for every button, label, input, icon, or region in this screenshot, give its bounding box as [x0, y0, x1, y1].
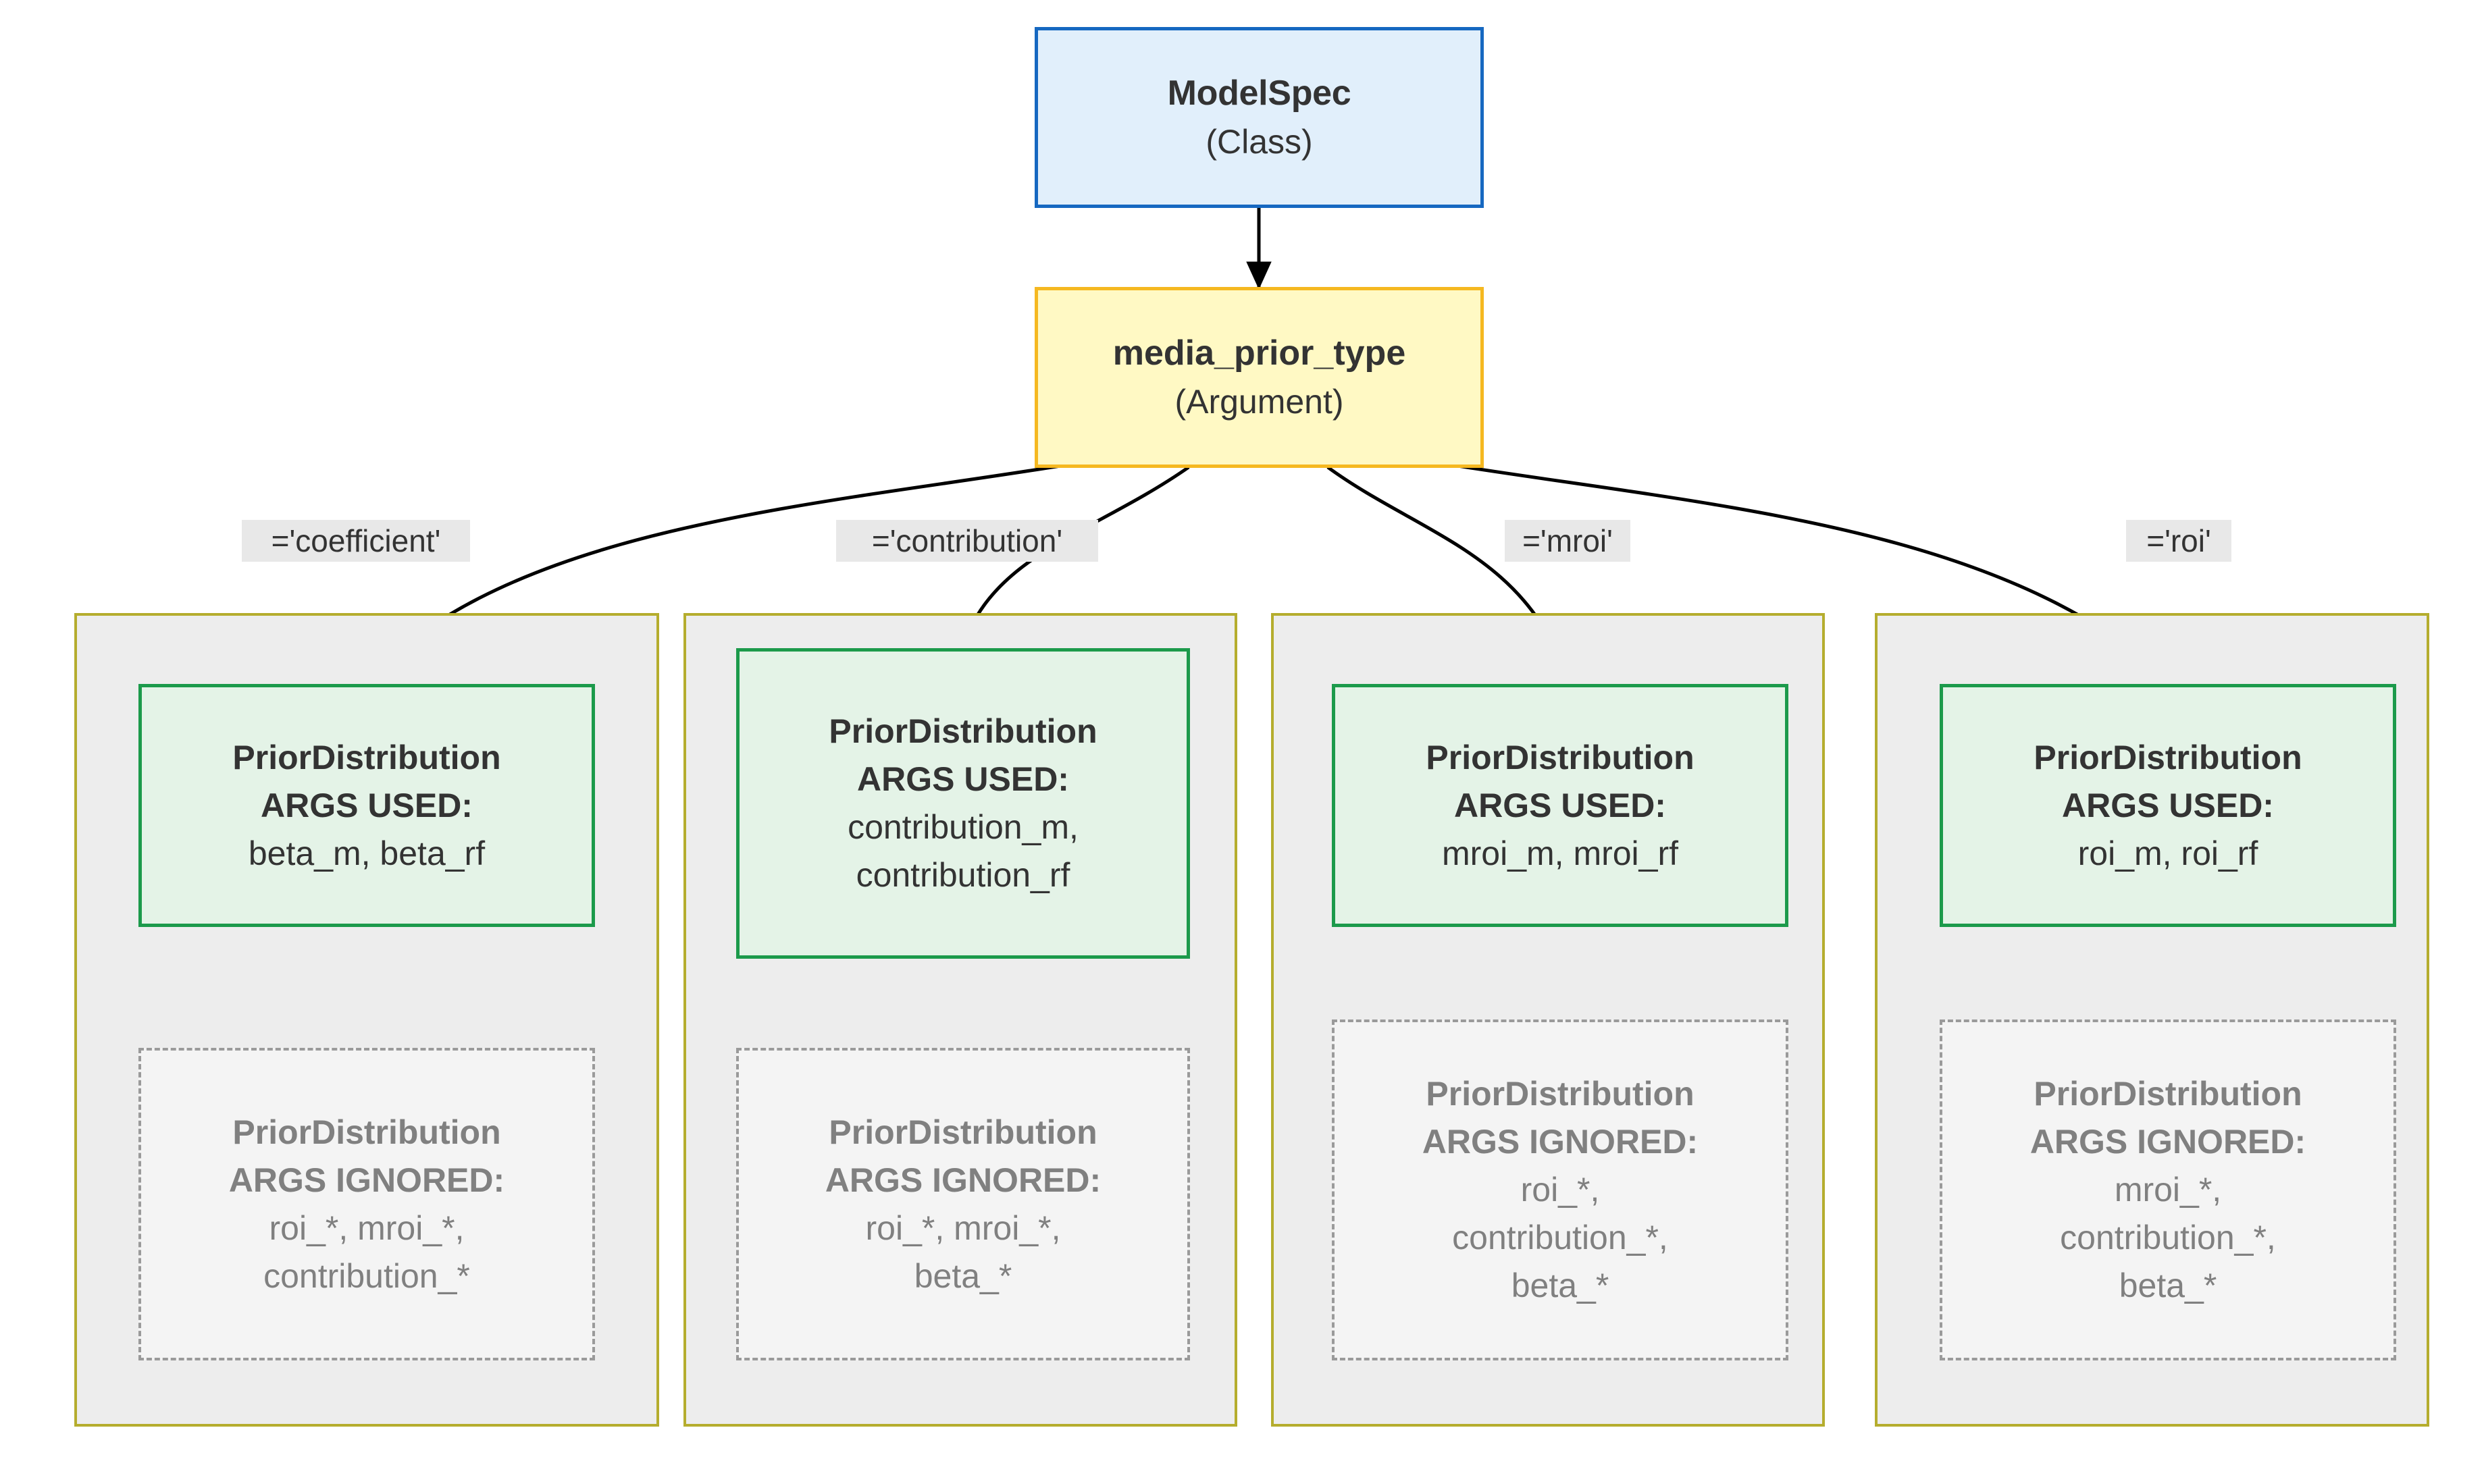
- used-mroi-title: PriorDistribution: [1426, 734, 1694, 782]
- used-mroi-title2: ARGS USED:: [1454, 782, 1666, 830]
- used-coefficient-title: PriorDistribution: [232, 734, 500, 782]
- used-mroi-args-0: mroi_m, mroi_rf: [1442, 830, 1678, 878]
- ignored-coefficient-title2: ARGS IGNORED:: [229, 1157, 504, 1204]
- node-used-roi[interactable]: PriorDistribution ARGS USED: roi_m, roi_…: [1940, 684, 2396, 927]
- media-prior-type-subtitle: (Argument): [1174, 378, 1343, 426]
- ignored-roi-title2: ARGS IGNORED:: [2030, 1118, 2306, 1166]
- used-contribution-args-1: contribution_rf: [856, 851, 1070, 899]
- node-used-mroi[interactable]: PriorDistribution ARGS USED: mroi_m, mro…: [1332, 684, 1788, 927]
- node-modelspec[interactable]: ModelSpec (Class): [1035, 27, 1484, 208]
- edge-label-roi: ='roi': [2126, 520, 2231, 562]
- used-roi-title2: ARGS USED:: [2062, 782, 2274, 830]
- node-ignored-mroi[interactable]: PriorDistribution ARGS IGNORED: roi_*, c…: [1332, 1019, 1788, 1360]
- node-used-coefficient[interactable]: PriorDistribution ARGS USED: beta_m, bet…: [138, 684, 595, 927]
- ignored-roi-args-0: mroi_*,: [2115, 1166, 2221, 1214]
- used-roi-title: PriorDistribution: [2034, 734, 2302, 782]
- ignored-mroi-title2: ARGS IGNORED:: [1422, 1118, 1698, 1166]
- ignored-coefficient-args-0: roi_*, mroi_*,: [269, 1204, 465, 1252]
- ignored-mroi-args-0: roi_*,: [1521, 1166, 1600, 1214]
- ignored-coefficient-args-1: contribution_*: [263, 1252, 470, 1300]
- ignored-contribution-args-0: roi_*, mroi_*,: [866, 1204, 1061, 1252]
- ignored-contribution-title2: ARGS IGNORED:: [825, 1157, 1101, 1204]
- ignored-mroi-args-1: contribution_*,: [1452, 1214, 1668, 1262]
- ignored-roi-args-2: beta_*: [2119, 1262, 2217, 1310]
- modelspec-title: ModelSpec: [1168, 69, 1351, 119]
- diagram-canvas: ModelSpec (Class) media_prior_type (Argu…: [0, 0, 2484, 1484]
- node-media-prior-type[interactable]: media_prior_type (Argument): [1035, 287, 1484, 468]
- edge-label-contribution: ='contribution': [836, 520, 1098, 562]
- node-used-contribution[interactable]: PriorDistribution ARGS USED: contributio…: [736, 648, 1190, 959]
- edge-label-coefficient: ='coefficient': [242, 520, 470, 562]
- node-ignored-coefficient[interactable]: PriorDistribution ARGS IGNORED: roi_*, m…: [138, 1048, 595, 1360]
- ignored-contribution-title: PriorDistribution: [829, 1109, 1097, 1157]
- used-contribution-title: PriorDistribution: [829, 708, 1097, 756]
- ignored-roi-title: PriorDistribution: [2034, 1070, 2302, 1118]
- edge-label-mroi: ='mroi': [1505, 520, 1630, 562]
- node-ignored-roi[interactable]: PriorDistribution ARGS IGNORED: mroi_*, …: [1940, 1019, 2396, 1360]
- ignored-mroi-args-2: beta_*: [1511, 1262, 1609, 1310]
- ignored-contribution-args-1: beta_*: [914, 1252, 1012, 1300]
- used-coefficient-args-0: beta_m, beta_rf: [249, 830, 485, 878]
- used-roi-args-0: roi_m, roi_rf: [2078, 830, 2258, 878]
- media-prior-type-title: media_prior_type: [1113, 329, 1406, 379]
- ignored-roi-args-1: contribution_*,: [2060, 1214, 2276, 1262]
- node-ignored-contribution[interactable]: PriorDistribution ARGS IGNORED: roi_*, m…: [736, 1048, 1190, 1360]
- used-contribution-title2: ARGS USED:: [857, 756, 1069, 803]
- modelspec-subtitle: (Class): [1206, 118, 1312, 166]
- used-contribution-args-0: contribution_m,: [848, 803, 1079, 851]
- used-coefficient-title2: ARGS USED:: [261, 782, 473, 830]
- ignored-mroi-title: PriorDistribution: [1426, 1070, 1694, 1118]
- ignored-coefficient-title: PriorDistribution: [232, 1109, 500, 1157]
